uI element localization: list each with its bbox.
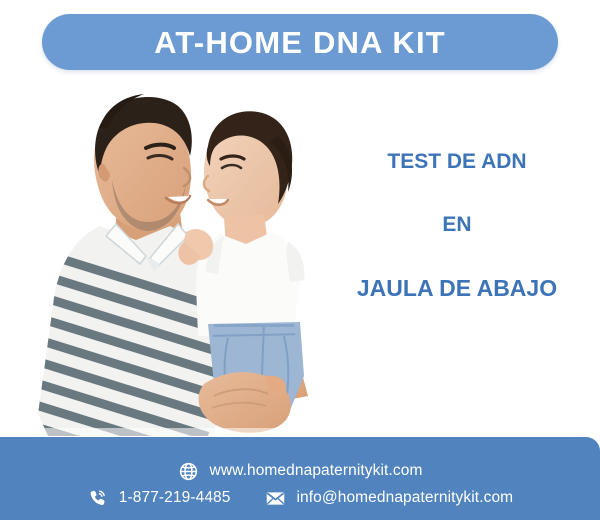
dna-kit-promo-poster: AT-HOME DNA KIT (0, 0, 600, 520)
header-band: AT-HOME DNA KIT (0, 0, 600, 92)
page-title: AT-HOME DNA KIT (154, 27, 446, 58)
service-info-block: TEST DE ADN EN JAULA DE ABAJO (326, 150, 588, 301)
footer-row-phone-email: 1-877-219-4485 info@homednapaternitykit.… (0, 488, 600, 509)
footer-top-notch (0, 437, 305, 449)
phone-icon (87, 488, 108, 509)
father-holding-toddler-photo (8, 84, 326, 446)
email-label: info@homednapaternitykit.com (297, 490, 514, 506)
globe-icon (178, 461, 199, 482)
email-contact-item[interactable]: info@homednapaternitykit.com (265, 488, 514, 509)
footer-contact-rows: www.homednapaternitykit.com 1-877-219-44… (0, 449, 600, 520)
phone-label: 1-877-219-4485 (119, 490, 231, 506)
website-label: www.homednapaternitykit.com (210, 463, 423, 479)
website-contact-item[interactable]: www.homednapaternitykit.com (178, 461, 423, 482)
phone-contact-item[interactable]: 1-877-219-4485 (87, 488, 231, 509)
service-name-line: TEST DE ADN (326, 150, 588, 173)
envelope-icon (265, 488, 286, 509)
location-name-line: JAULA DE ABAJO (326, 276, 588, 301)
title-pill: AT-HOME DNA KIT (42, 14, 558, 70)
connector-line: EN (326, 213, 588, 236)
footer-row-website: www.homednapaternitykit.com (0, 461, 600, 482)
